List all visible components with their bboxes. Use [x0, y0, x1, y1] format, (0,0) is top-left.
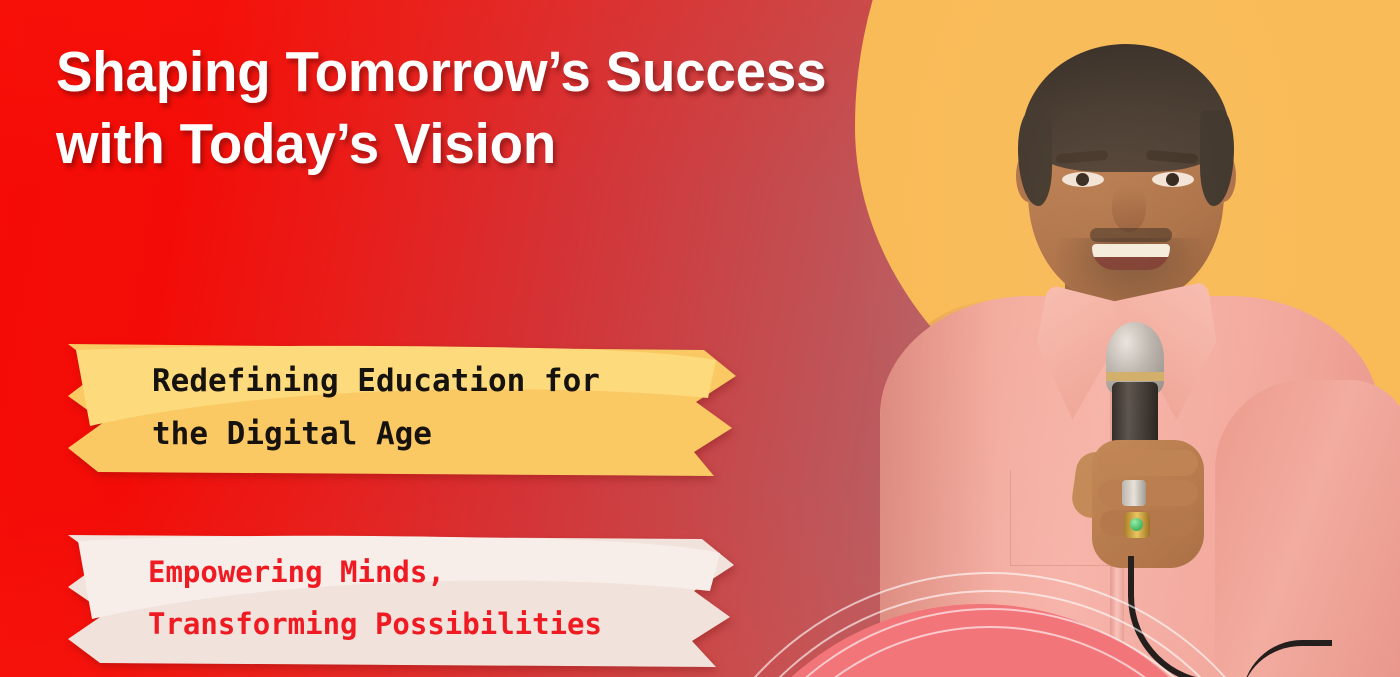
tagline-text-primary: Redefining Education for the Digital Age: [152, 355, 600, 460]
promo-banner: Shaping Tomorrow’s Success with Today’s …: [0, 0, 1400, 677]
page-title: Shaping Tomorrow’s Success with Today’s …: [56, 36, 958, 181]
tagline-ribbon-primary: Redefining Education for the Digital Age: [68, 340, 768, 476]
tagline-ribbon-secondary: Empowering Minds, Transforming Possibili…: [68, 531, 768, 667]
tagline-text-secondary: Empowering Minds, Transforming Possibili…: [148, 547, 602, 650]
